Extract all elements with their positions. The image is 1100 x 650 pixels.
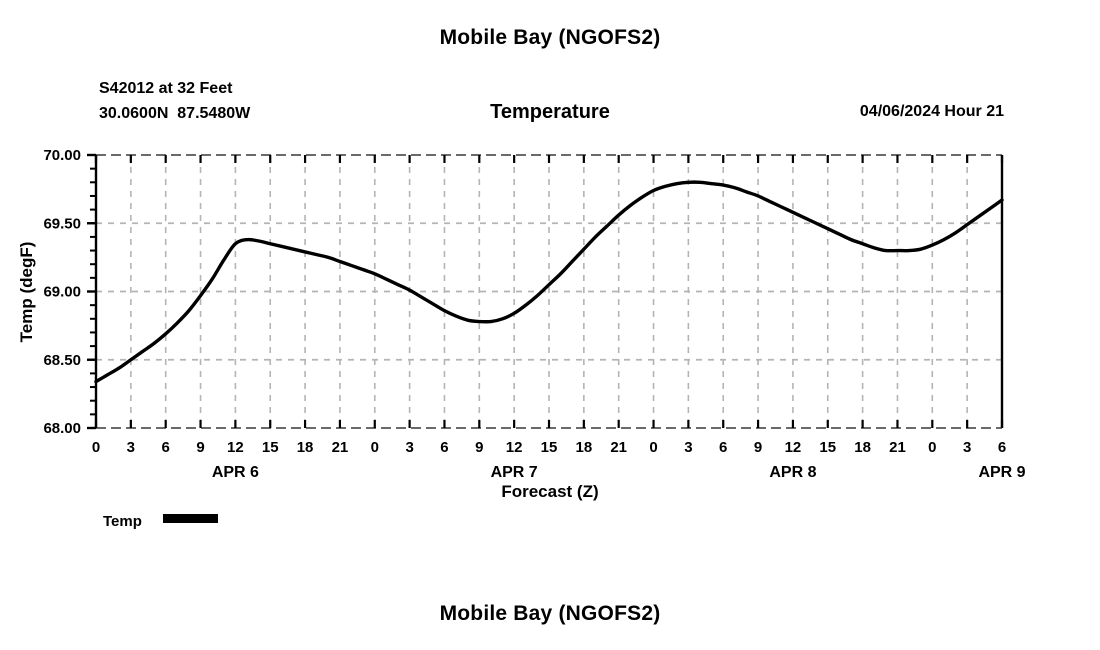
x-tick-label: 15 [541, 439, 558, 456]
x-day-label: APR 6 [212, 464, 259, 481]
x-tick-label: 3 [684, 439, 692, 456]
x-axis-day-labels: APR 6APR 7APR 8APR 9 [212, 464, 1026, 481]
y-tick-label: 69.00 [43, 284, 81, 301]
chart-page: Mobile Bay (NGOFS2) S42012 at 32 Feet 30… [0, 0, 1100, 650]
temperature-chart: 70.0069.5069.0068.5068.00 03691215182103… [0, 0, 1100, 650]
y-axis-ticks [87, 155, 96, 428]
x-tick-label: 9 [475, 439, 483, 456]
x-tick-label: 15 [819, 439, 836, 456]
x-axis-title: Forecast (Z) [501, 482, 598, 501]
x-tick-label: 21 [889, 439, 906, 456]
y-axis-tick-labels: 70.0069.5069.0068.5068.00 [43, 147, 81, 437]
x-tick-label: 12 [227, 439, 244, 456]
x-tick-label: 9 [754, 439, 762, 456]
x-tick-label: 3 [405, 439, 413, 456]
x-tick-label: 21 [332, 439, 349, 456]
x-tick-label: 0 [371, 439, 379, 456]
y-axis-title: Temp (degF) [17, 242, 36, 343]
x-tick-label: 6 [440, 439, 448, 456]
x-tick-label: 12 [506, 439, 523, 456]
page-title-bottom: Mobile Bay (NGOFS2) [0, 602, 1100, 626]
x-tick-label: 18 [576, 439, 593, 456]
y-tick-label: 68.50 [43, 352, 81, 369]
y-tick-label: 68.00 [43, 420, 81, 437]
x-tick-label: 0 [649, 439, 657, 456]
y-tick-label: 69.50 [43, 215, 81, 232]
x-tick-label: 6 [998, 439, 1006, 456]
x-day-label: APR 7 [491, 464, 538, 481]
x-tick-label: 6 [162, 439, 170, 456]
y-tick-label: 70.00 [43, 147, 81, 164]
legend-series-label: Temp [103, 513, 142, 530]
x-tick-label: 0 [928, 439, 936, 456]
x-tick-label: 3 [127, 439, 135, 456]
x-tick-label: 6 [719, 439, 727, 456]
x-tick-label: 3 [963, 439, 971, 456]
x-tick-label: 18 [854, 439, 871, 456]
x-axis-tick-labels: 036912151821036912151821036912151821036 [92, 439, 1006, 456]
x-day-label: APR 9 [978, 464, 1025, 481]
x-tick-label: 12 [785, 439, 802, 456]
legend-line-swatch [163, 514, 218, 523]
x-tick-label: 18 [297, 439, 314, 456]
x-tick-label: 21 [610, 439, 627, 456]
x-tick-label: 9 [196, 439, 204, 456]
x-day-label: APR 8 [769, 464, 816, 481]
x-tick-label: 0 [92, 439, 100, 456]
x-tick-label: 15 [262, 439, 279, 456]
